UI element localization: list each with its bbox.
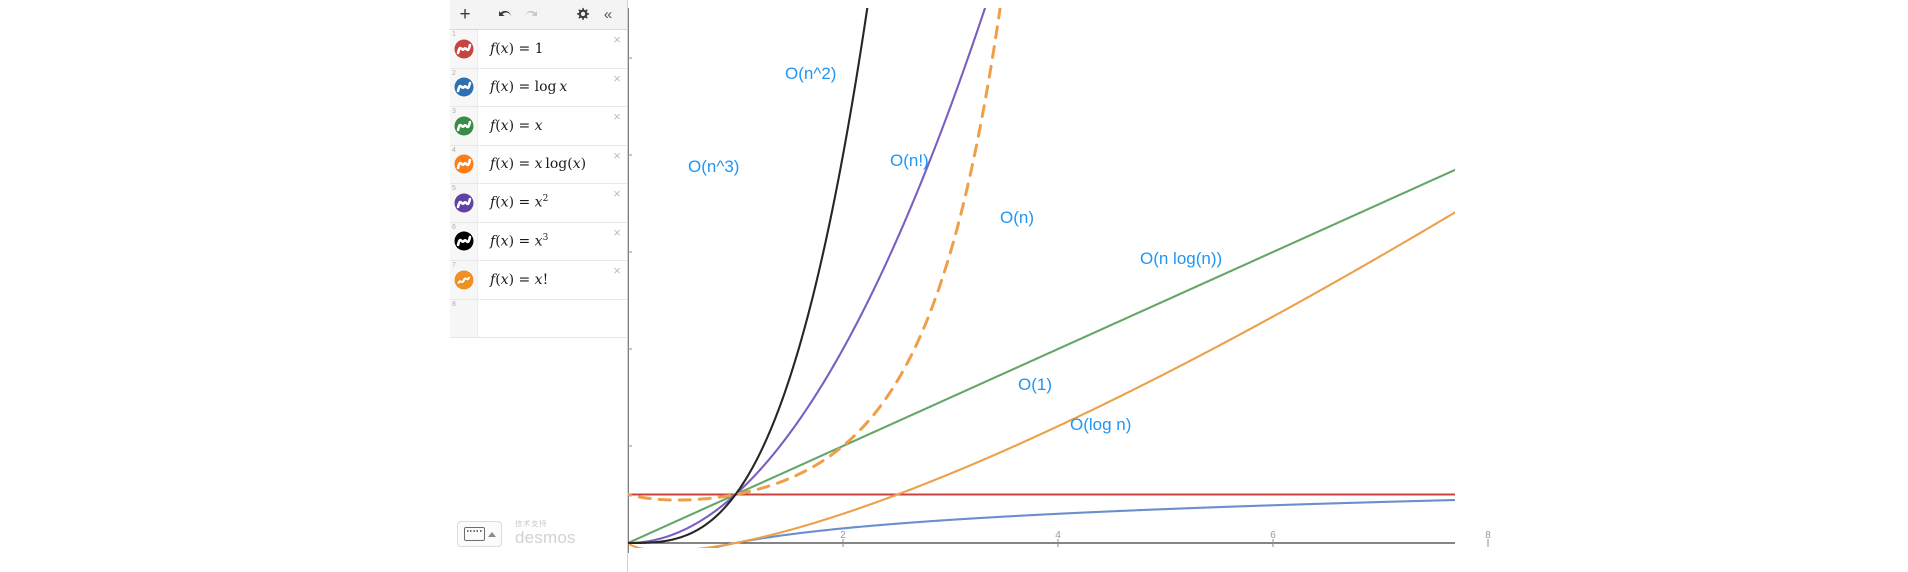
expression-row[interactable]: 4f(x) = x log(x)× (450, 146, 627, 185)
curve-color-swatch-icon[interactable] (454, 39, 473, 58)
expression-formula[interactable]: f(x) = 1 (478, 41, 607, 57)
expression-index-cell: 4 (450, 146, 478, 184)
svg-text:2: 2 (840, 530, 846, 541)
expression-panel: + « 1f(x) = 1×2f(x) = (450, 0, 628, 572)
add-expression-button[interactable]: + (450, 0, 480, 29)
curve-o-log-n (630, 490, 1908, 572)
curve-color-swatch-icon[interactable] (454, 193, 473, 212)
expression-index-cell: 2 (450, 69, 478, 107)
expression-toolbar: + « (450, 0, 627, 30)
delete-expression-icon[interactable]: × (607, 71, 627, 86)
expression-index-cell: 5 (450, 184, 478, 222)
expression-index-cell: 7 (450, 261, 478, 299)
undo-icon (496, 8, 514, 22)
expression-number: 7 (452, 262, 456, 270)
expression-row[interactable]: 5f(x) = x2× (450, 184, 627, 223)
annotation-label: O(n log(n)) (1140, 249, 1222, 268)
expression-index-cell: 6 (450, 223, 478, 261)
curve-color-swatch-icon[interactable] (454, 155, 473, 174)
collapse-panel-button[interactable]: « (596, 0, 620, 29)
svg-text:6: 6 (1270, 530, 1276, 541)
expression-number: 4 (452, 147, 456, 155)
curves (628, 0, 1908, 572)
caret-up-icon (488, 532, 496, 537)
expression-number: 5 (452, 185, 456, 193)
brand-subtitle: 技术支持 (515, 519, 605, 528)
plus-icon: + (459, 4, 470, 26)
expression-formula[interactable]: f(x) = x! (478, 272, 607, 288)
expression-index-cell: 1 (450, 30, 478, 68)
expression-formula[interactable]: f(x) = x (478, 118, 607, 134)
delete-expression-icon[interactable]: × (607, 32, 627, 47)
delete-expression-icon[interactable]: × (607, 148, 627, 163)
expression-row[interactable]: 7f(x) = x!× (450, 261, 627, 300)
delete-expression-icon[interactable]: × (607, 109, 627, 124)
annotation-label: O(log n) (1070, 415, 1131, 434)
expression-number: 1 (452, 31, 456, 39)
redo-button[interactable] (518, 0, 544, 29)
graph-canvas[interactable]: 2468246810O(n^3)O(n^2)O(n!)O(n)O(n log(n… (628, 0, 1908, 572)
annotation-label: O(n^2) (785, 64, 836, 83)
keyboard-icon (464, 527, 485, 541)
graph-svg: 2468246810O(n^3)O(n^2)O(n!)O(n)O(n log(n… (628, 0, 1908, 572)
annotation-label: O(n) (1000, 208, 1034, 227)
delete-expression-icon[interactable]: × (607, 225, 627, 240)
redo-icon (522, 8, 540, 22)
svg-text:8: 8 (1485, 530, 1491, 541)
expression-number: 6 (452, 224, 456, 232)
annotation-label: O(n!) (890, 151, 929, 170)
expression-formula[interactable]: f(x) = x3 (478, 233, 607, 250)
expression-index-cell: 8 (450, 300, 478, 337)
expression-row[interactable]: 6f(x) = x3× (450, 223, 627, 262)
svg-text:4: 4 (1055, 530, 1061, 541)
brand-name: desmos (515, 528, 605, 547)
curve-annotations: O(n^3)O(n^2)O(n!)O(n)O(n log(n))O(1)O(lo… (688, 64, 1222, 434)
double-chevron-left-icon: « (604, 6, 612, 23)
annotation-label: O(n^3) (688, 157, 739, 176)
curve-color-swatch-icon[interactable] (454, 116, 473, 135)
curve-color-swatch-icon[interactable] (454, 78, 473, 97)
expression-number: 3 (452, 108, 456, 116)
delete-expression-icon[interactable]: × (607, 263, 627, 278)
desmos-calculator-app: + « 1f(x) = 1×2f(x) = (0, 0, 1908, 572)
expression-formula[interactable]: f(x) = x2 (478, 194, 607, 211)
expression-formula[interactable]: f(x) = x log(x) (478, 156, 607, 172)
expression-formula[interactable]: f(x) = log x (478, 79, 607, 95)
annotation-label: O(1) (1018, 375, 1052, 394)
delete-expression-icon[interactable]: × (607, 186, 627, 201)
expression-row[interactable]: 1f(x) = 1× (450, 30, 627, 69)
keyboard-toggle-button[interactable] (457, 521, 502, 547)
expression-row-empty[interactable]: 8 (450, 300, 627, 338)
expression-row[interactable]: 3f(x) = x× (450, 107, 627, 146)
settings-gear-button[interactable] (570, 0, 594, 29)
expression-index-cell: 3 (450, 107, 478, 145)
axes (628, 8, 1455, 553)
expression-row[interactable]: 2f(x) = log x× (450, 69, 627, 108)
curve-color-swatch-icon[interactable] (454, 232, 473, 251)
undo-button[interactable] (492, 0, 518, 29)
expression-number: 2 (452, 70, 456, 78)
expression-list: 1f(x) = 1×2f(x) = log x×3f(x) = x×4f(x) … (450, 30, 627, 572)
curve-o-n (628, 0, 1908, 572)
desmos-branding: 技术支持 desmos (515, 519, 605, 547)
gear-icon (575, 7, 590, 22)
expression-number: 8 (452, 301, 456, 309)
curve-color-swatch-icon[interactable] (454, 270, 473, 289)
